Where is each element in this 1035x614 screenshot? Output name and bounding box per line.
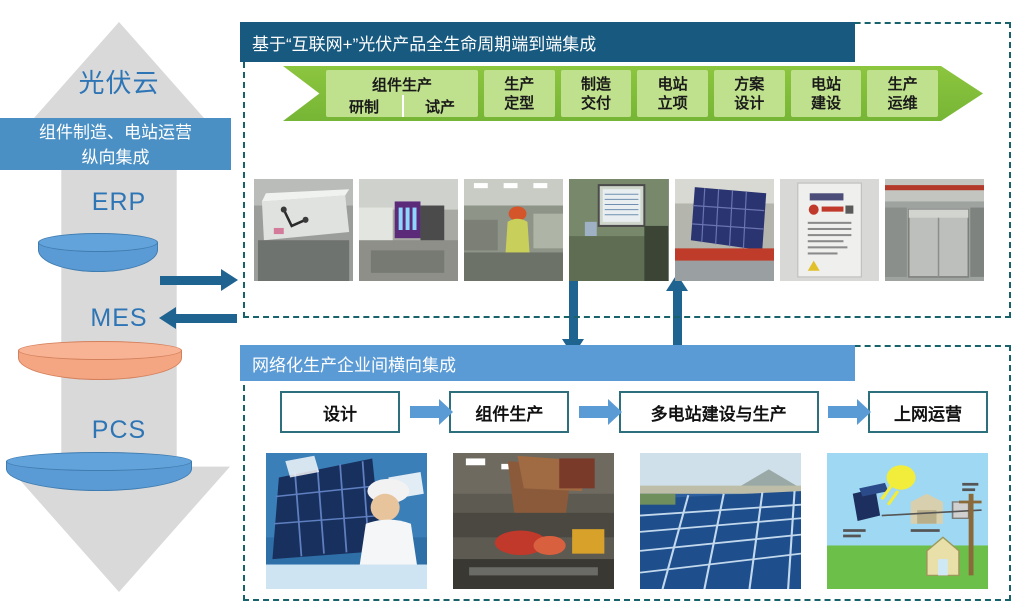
disc-pcs — [6, 452, 192, 500]
vertical-integration-column: 光伏云 组件制造、电站运营 纵向集成 ERP MES PCS — [0, 0, 232, 614]
stage-line-2: 运维 — [888, 94, 918, 113]
stage-line-2: 交付 — [581, 94, 611, 113]
top-panel-title: 基于“互联网+”光伏产品全生命周期端到端集成 — [240, 22, 855, 62]
photo-grid-diagram — [827, 453, 988, 589]
arrow-right-icon — [828, 406, 858, 418]
flow-step-design[interactable]: 设计 — [280, 391, 400, 433]
top-panel-photo-strip — [254, 179, 984, 281]
disc-mes — [18, 341, 182, 389]
chevron-right-point — [941, 66, 983, 121]
process-stage-production-ops[interactable]: 生产 运维 — [867, 70, 938, 117]
photo-equipment-cabinet — [254, 179, 353, 281]
photo-monitor-station — [569, 179, 668, 281]
stage-line-2: 建设 — [811, 94, 841, 113]
substage-yanzhi[interactable]: 研制 — [326, 95, 402, 117]
flow-arrow-2 — [569, 406, 618, 418]
stage-line-2: 立项 — [658, 94, 688, 113]
arrow-left-top-panel-to-mes — [175, 314, 237, 323]
band-line-1: 组件制造、电站运营 — [0, 120, 231, 145]
stage-line-2: 定型 — [504, 94, 534, 113]
bottom-panel-photo-strip — [266, 453, 988, 589]
layer-label-erp: ERP — [8, 188, 230, 217]
photo-inspector-module — [266, 453, 427, 589]
photo-factory-cabinet — [885, 179, 984, 281]
chevron-left-notch — [283, 66, 323, 121]
photo-product-label — [780, 179, 879, 281]
layer-label-pcs: PCS — [8, 416, 230, 445]
flow-step-multi-plant-build[interactable]: 多电站建设与生产 — [619, 391, 819, 433]
flow-step-module-production[interactable]: 组件生产 — [449, 391, 569, 433]
stage-line-1: 电站 — [658, 75, 688, 94]
stage-line-1: 方案 — [734, 75, 764, 94]
substage-shichan[interactable]: 试产 — [402, 95, 478, 117]
stage-line-1: 制造 — [581, 75, 611, 94]
photo-test-chamber — [359, 179, 458, 281]
process-stage-plant-construction[interactable]: 电站 建设 — [791, 70, 862, 117]
horizontal-flow: 设计 组件生产 多电站建设与生产 上网运营 — [280, 389, 988, 435]
arrow-right-icon — [579, 406, 609, 418]
photo-wafer-production — [453, 453, 614, 589]
process-stage-group-module-production[interactable]: 组件生产 研制 试产 — [326, 70, 478, 117]
photo-solar-panel-line — [675, 179, 774, 281]
process-stage-manufacture-delivery[interactable]: 制造 交付 — [561, 70, 632, 117]
flow-arrow-3 — [819, 406, 868, 418]
cloud-label: 光伏云 — [8, 63, 230, 100]
process-stage-production-finalization[interactable]: 生产 定型 — [484, 70, 555, 117]
band-line-2: 纵向集成 — [0, 145, 231, 170]
bottom-panel-title: 网络化生产企业间横向集成 — [240, 345, 855, 381]
flow-arrow-1 — [400, 406, 449, 418]
arrow-right-erp-to-top-panel — [160, 276, 222, 285]
flow-step-grid-operation[interactable]: 上网运营 — [868, 391, 988, 433]
disc-top — [18, 341, 182, 360]
photo-workers-line — [464, 179, 563, 281]
photo-solar-farm — [640, 453, 801, 589]
process-stage-list: 组件生产 研制 试产 生产 定型 制造 交付 电站 立项 方案 设计 电站 建设… — [283, 66, 983, 121]
group-title: 组件生产 — [326, 70, 478, 95]
disc-top — [38, 233, 158, 252]
process-stage-scheme-design[interactable]: 方案 设计 — [714, 70, 785, 117]
stage-line-1: 生产 — [888, 75, 918, 94]
stage-line-1: 生产 — [504, 75, 534, 94]
disc-top — [6, 452, 192, 471]
stage-line-1: 电站 — [811, 75, 841, 94]
group-substages: 研制 试产 — [326, 95, 478, 117]
arrow-right-icon — [410, 406, 440, 418]
vertical-integration-band: 组件制造、电站运营 纵向集成 — [0, 118, 231, 170]
disc-erp — [38, 233, 158, 278]
stage-line-2: 设计 — [734, 94, 764, 113]
diagram-canvas: 光伏云 组件制造、电站运营 纵向集成 ERP MES PCS 基于“互联网+”光… — [0, 0, 1035, 614]
process-stage-plant-initiation[interactable]: 电站 立项 — [637, 70, 708, 117]
